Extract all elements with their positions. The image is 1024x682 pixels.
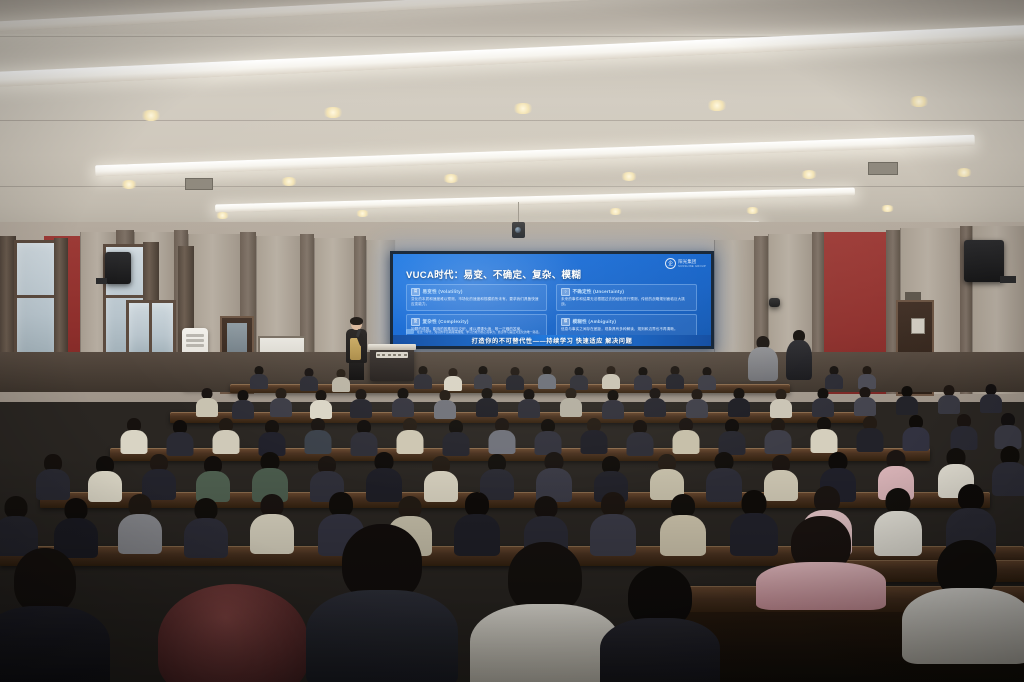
audience-member: [332, 369, 350, 391]
company-name-sub: SUNSHINE GROUP: [678, 265, 706, 268]
audience-member-foreground: [756, 516, 886, 602]
audience-member: [518, 389, 540, 417]
audience-member: [570, 367, 588, 389]
ceiling-downlight: [608, 208, 623, 215]
camera-cord: [518, 202, 519, 224]
audience-member: [142, 454, 176, 498]
audience-member: [602, 390, 624, 418]
audience-member: [644, 388, 666, 416]
audience-member: [196, 456, 230, 500]
audience-member: [444, 368, 462, 390]
ceiling-downlight: [215, 212, 230, 219]
audience-member: [764, 418, 791, 452]
standing-staff-right: [748, 336, 778, 380]
audience-member: [350, 389, 372, 417]
slide-footnote: 在这个时代，知识的半衰期越来越短，学习力成为核心竞争力，终身学习是应对变化的唯一…: [406, 329, 541, 334]
audience-member: [770, 389, 792, 417]
audience-member: [660, 494, 706, 554]
audience-member: [538, 366, 556, 388]
audience-member: [0, 496, 38, 554]
ceiling-downlight: [706, 100, 728, 111]
audience-member: [634, 367, 652, 389]
audience-member: [994, 413, 1021, 447]
audience-member: [718, 419, 745, 453]
speaker-bracket-right: [1000, 276, 1016, 283]
audience-member-foreground: [0, 548, 110, 682]
audience-member: [980, 384, 1002, 412]
audience-member: [166, 420, 193, 454]
audience-member: [560, 388, 582, 416]
audience-member: [950, 414, 977, 448]
audience-member-other-jacket: [252, 452, 288, 500]
audience-member: [232, 390, 254, 418]
audience-member: [698, 367, 716, 389]
audience-member: [536, 452, 572, 500]
audience-member: [184, 498, 228, 556]
audience-member: [442, 420, 469, 454]
banner-text: 打造你的不可替代性——持续学习 快速适应 解决问题: [472, 336, 633, 345]
ceiling-downlight: [512, 103, 534, 114]
audience-member: [196, 388, 218, 416]
audience-member: [118, 494, 162, 552]
ceiling-downlight: [140, 110, 162, 121]
audience-member: [250, 494, 294, 552]
audience-member: [212, 418, 239, 452]
audience-member: [36, 454, 70, 498]
slide-quadrant-volatility: 易 易变性 (Volatility) 变化的本质和速度难以预测，市场化的速度和规…: [406, 284, 547, 311]
quadrant-body: 信息与事实之间存在差距，现象具有多种解读，规则和边界也不再清晰。: [561, 327, 692, 332]
podium-control-panel[interactable]: [376, 352, 408, 358]
quadrant-body: 变化的本质和速度难以预测，市场化的速度和规模前所未有，要求我们具备快速应变能力。: [411, 297, 542, 308]
company-logo-icon: 企: [665, 258, 676, 269]
speaker-bracket-left: [96, 278, 107, 284]
audience-member: [476, 388, 498, 416]
audience-member: [474, 366, 492, 388]
ceiling-downlight: [955, 168, 973, 177]
audience-member: [856, 416, 883, 450]
question-icon: ?: [561, 288, 570, 296]
audience-member: [506, 367, 524, 389]
blur-icon: 模: [561, 318, 570, 326]
audience-member: [434, 390, 456, 418]
note-icon: [406, 329, 414, 334]
quadrant-label: 不确定性 (Uncertainty): [573, 289, 625, 295]
standing-staff-right-2: [786, 330, 812, 380]
audience-member-foreground: [902, 540, 1024, 660]
ceiling-downlight: [355, 210, 370, 217]
ceiling-downlight: [908, 96, 930, 107]
audience-member: [902, 415, 929, 449]
wall-outlet-plate: [911, 318, 925, 334]
audience-member: [666, 366, 684, 388]
audience-member: [728, 388, 750, 416]
audience-member: [250, 366, 268, 388]
presentation-slide: 企 阳光集团 SUNSHINE GROUP VUCA时代：易变、不确定、复杂、模…: [393, 254, 711, 346]
audience-member: [938, 385, 960, 413]
audience-member: [414, 366, 432, 388]
projection-screen: 企 阳光集团 SUNSHINE GROUP VUCA时代：易变、不确定、复杂、模…: [390, 251, 714, 349]
quadrant-label: 易变性 (Volatility): [423, 289, 463, 295]
ceiling-downlight: [120, 180, 138, 189]
audience-member: [650, 454, 684, 498]
audience-member: [270, 388, 292, 416]
quadrant-label: 模糊性 (Ambiguity): [573, 319, 617, 325]
ceiling-vent: [868, 162, 898, 175]
wall-vent-right: [905, 292, 921, 300]
wall-speaker-right: [964, 240, 1004, 282]
audience-member: [424, 456, 458, 500]
audience-member: [626, 420, 653, 454]
lecture-hall-scene: 企 阳光集团 SUNSHINE GROUP VUCA时代：易变、不确定、复杂、模…: [0, 0, 1024, 682]
ceiling-downlight: [745, 207, 760, 214]
slide-title: VUCA时代：易变、不确定、复杂、模糊: [406, 267, 581, 281]
podium: [370, 347, 414, 381]
audience-member: [88, 456, 122, 500]
audience-member: [396, 418, 423, 452]
audience-member: [120, 418, 147, 452]
audience-member: [825, 366, 843, 388]
audience-member: [854, 387, 876, 415]
audience-member: [992, 446, 1024, 494]
audience-member: [350, 420, 377, 454]
audience-member: [896, 386, 918, 414]
wave-icon: 易: [411, 288, 420, 296]
quadrant-label: 复杂性 (Complexity): [423, 319, 469, 325]
audience-member-foreground-pink-hair: [158, 584, 308, 682]
ceiling-downlight: [322, 107, 344, 118]
dome-camera: [512, 222, 525, 238]
ceiling-downlight: [280, 177, 298, 186]
network-icon: 复: [411, 318, 420, 326]
note-text: 在这个时代，知识的半衰期越来越短，学习力成为核心竞争力，终身学习是应对变化的唯一…: [417, 330, 541, 334]
ceiling-downlight: [620, 172, 638, 181]
audience-member: [858, 366, 876, 388]
audience-member: [812, 388, 834, 416]
audience-member: [580, 418, 607, 452]
wall-speaker-right-small: [769, 298, 780, 307]
audience-member: [488, 418, 515, 452]
audience-member: [310, 390, 332, 418]
slide-quadrant-uncertainty: ? 不确定性 (Uncertainty) 未来的事件和结果无法根据过去的经验进行…: [556, 284, 697, 311]
audience-member: [686, 389, 708, 417]
audience-member: [602, 366, 620, 388]
ceiling-downlight: [880, 205, 895, 212]
ceiling-downlight: [442, 174, 460, 183]
slide-logo: 企 阳光集团 SUNSHINE GROUP: [665, 258, 706, 269]
audience-member-foreground: [306, 524, 458, 682]
audience-member-foreground: [600, 566, 720, 682]
ceiling-vent: [185, 178, 213, 190]
ceiling-downlight: [800, 170, 818, 179]
audience-member: [300, 368, 318, 390]
audience-member-foreground: [470, 542, 620, 682]
audience-member: [810, 417, 837, 451]
audience-member: [672, 418, 699, 452]
wall-speaker-left: [105, 252, 131, 284]
audience-member: [304, 418, 331, 452]
quadrant-body: 未来的事件和结果无法根据过去的经验进行预测，传统的战略规划面临巨大挑战。: [561, 297, 692, 308]
audience-member: [392, 388, 414, 416]
slide-banner: 打造你的不可替代性——持续学习 快速适应 解决问题: [393, 335, 711, 346]
audience-member: [258, 420, 285, 454]
audience-member: [366, 452, 402, 500]
audience-member: [534, 419, 561, 453]
